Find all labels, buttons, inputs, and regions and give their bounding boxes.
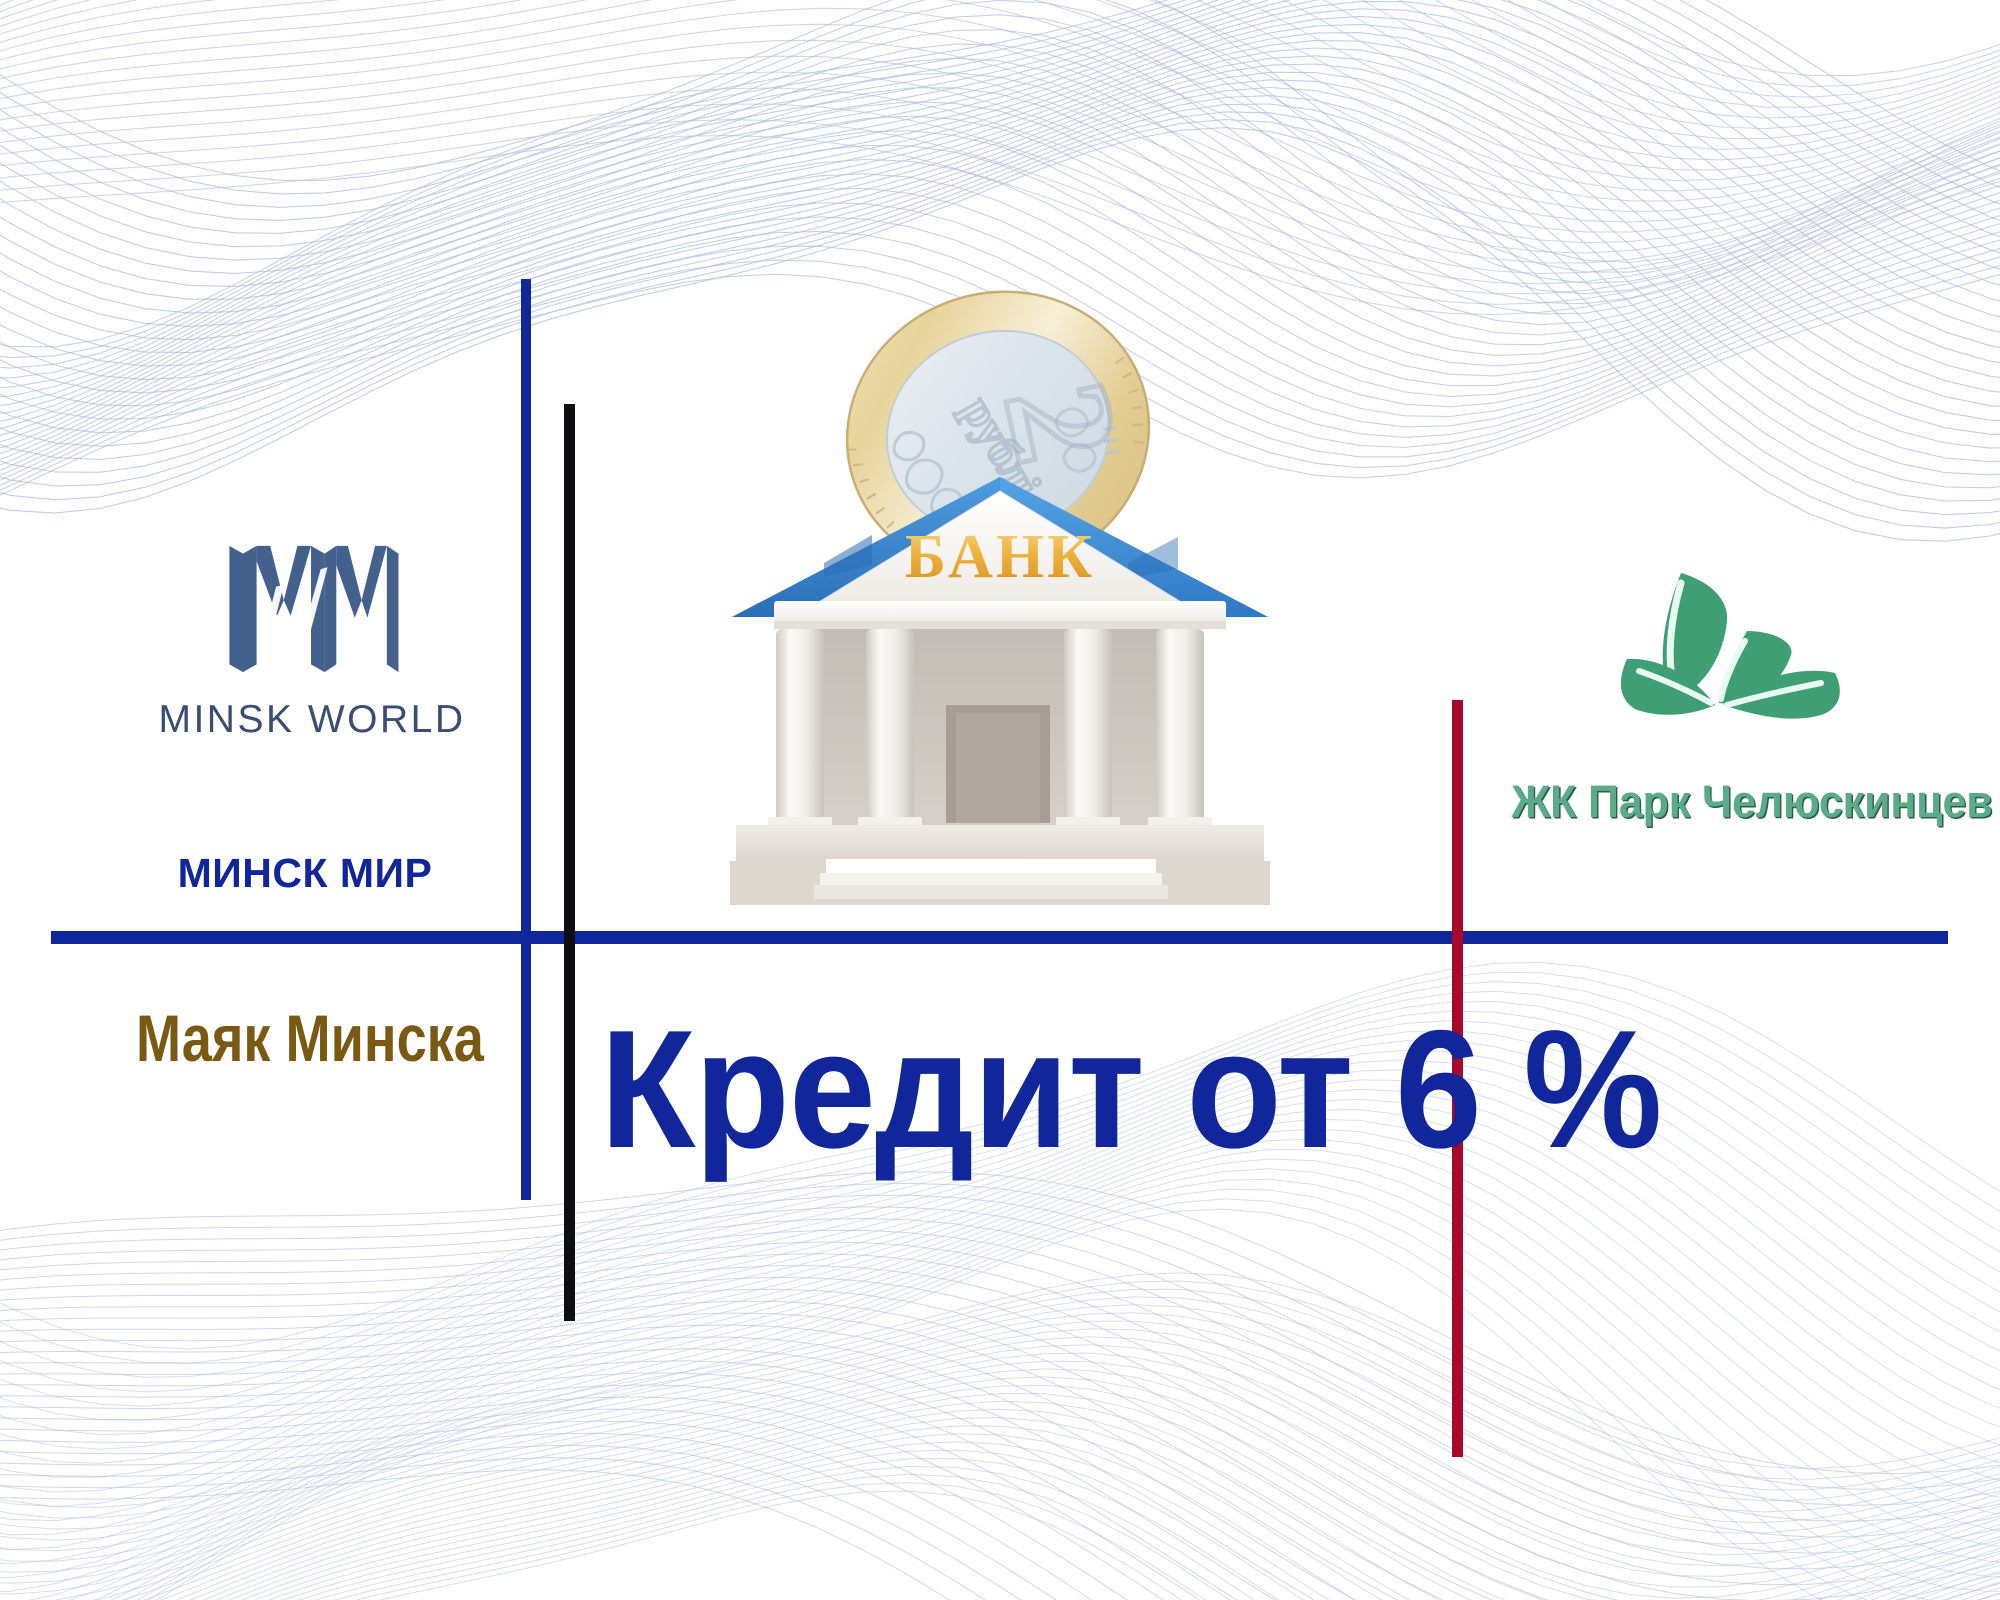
svg-text:БАНК: БАНК [905, 523, 1095, 591]
bank-building-with-coin-icon: 2 рублі БАНК [720, 265, 1280, 905]
vertical-blue-rule [521, 279, 531, 1200]
park-chelyuskintsev-brand-block: ЖК Парк Челюскинцев [1500, 565, 1960, 828]
label-mayak-minska: Маяк Минска [136, 1000, 464, 1076]
page-headline: Кредит от 6 % [600, 1005, 1437, 1173]
minsk-world-brand-block: MINSK WORLD [152, 540, 472, 742]
vertical-black-rule [564, 404, 575, 1321]
minsk-world-wordmark: MINSK WORLD [152, 698, 472, 742]
label-park-chelyuskintsev: ЖК Парк Челюскинцев [1512, 776, 1949, 828]
mw-monogram-icon [219, 540, 405, 678]
horizontal-blue-rule [51, 931, 1948, 944]
green-leaves-icon [1595, 565, 1865, 770]
label-minsk-mir: МИНСК МИР [110, 850, 500, 897]
promo-poster: MINSK WORLD МИНСК МИР Маяк Минска ЖК Пар… [0, 0, 2000, 1600]
